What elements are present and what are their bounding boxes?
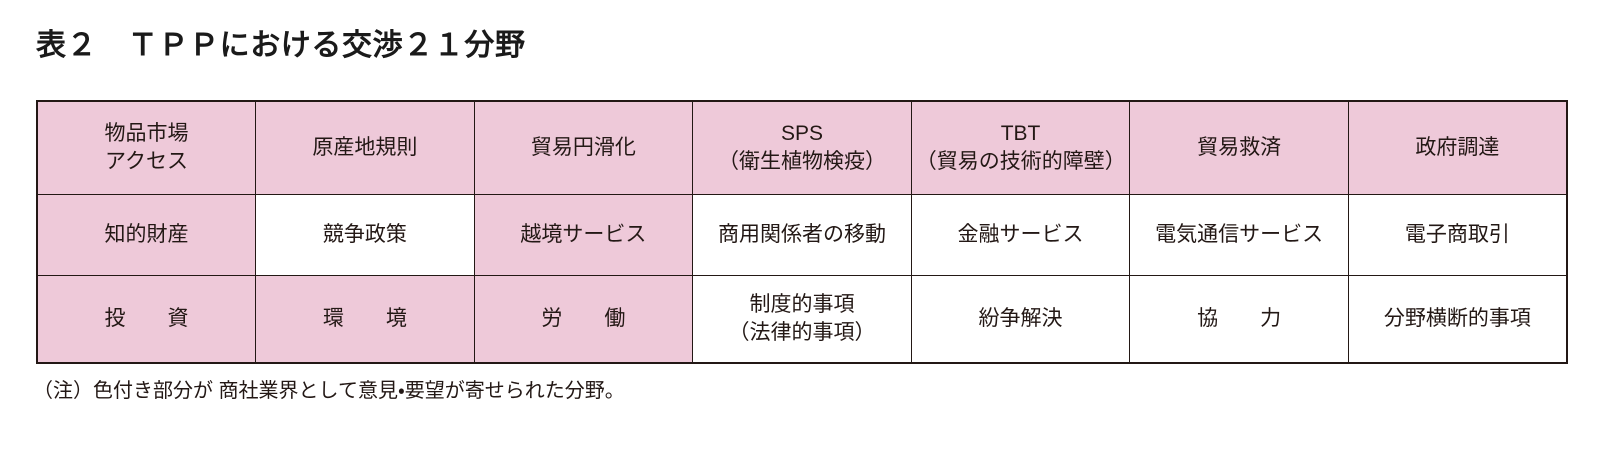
cell-sps: SPS （衛生植物検疫） xyxy=(693,101,912,195)
table-footnote: （注）色付き部分が 商社業界として意見・要望が寄せられた分野。 xyxy=(33,378,625,404)
cell-cross-cutting-issues: 分野横断的事項 xyxy=(1348,276,1567,364)
cell-electronic-commerce: 電子商取引 xyxy=(1348,195,1567,276)
negotiation-fields-table: 物品市場 アクセス 原産地規則 貿易円滑化 SPS （衛生植物検疫） TBT （… xyxy=(36,100,1568,364)
cell-competition-policy: 競争政策 xyxy=(256,195,475,276)
cell-rules-of-origin: 原産地規則 xyxy=(256,101,475,195)
table-row: 物品市場 アクセス 原産地規則 貿易円滑化 SPS （衛生植物検疫） TBT （… xyxy=(37,101,1567,195)
cell-business-travel: 商用関係者の移動 xyxy=(693,195,912,276)
cell-cooperation: 協 力 xyxy=(1130,276,1349,364)
table-body: 物品市場 アクセス 原産地規則 貿易円滑化 SPS （衛生植物検疫） TBT （… xyxy=(37,101,1567,363)
cell-tbt: TBT （貿易の技術的障壁） xyxy=(911,101,1130,195)
figure-container: 表２ ＴＰＰにおける交渉２１分野 物品市場 アクセス 原産地規則 貿易円滑化 S… xyxy=(0,0,1602,460)
cell-cross-border-services: 越境サービス xyxy=(474,195,693,276)
table-row: 投 資 環 境 労 働 制度的事項 （法律的事項） 紛争解決 協 力 分野横断的… xyxy=(37,276,1567,364)
cell-financial-services: 金融サービス xyxy=(911,195,1130,276)
cell-trade-remedies: 貿易救済 xyxy=(1130,101,1349,195)
cell-investment: 投 資 xyxy=(37,276,256,364)
cell-trade-facilitation: 貿易円滑化 xyxy=(474,101,693,195)
cell-dispute-settlement: 紛争解決 xyxy=(911,276,1130,364)
cell-environment: 環 境 xyxy=(256,276,475,364)
cell-government-procurement: 政府調達 xyxy=(1348,101,1567,195)
page-title: 表２ ＴＰＰにおける交渉２１分野 xyxy=(36,28,526,64)
cell-labour: 労 働 xyxy=(474,276,693,364)
negotiation-fields-table-wrapper: 物品市場 アクセス 原産地規則 貿易円滑化 SPS （衛生植物検疫） TBT （… xyxy=(36,100,1566,364)
cell-telecom-services: 電気通信サービス xyxy=(1130,195,1349,276)
cell-intellectual-property: 知的財産 xyxy=(37,195,256,276)
cell-institutional-matters: 制度的事項 （法律的事項） xyxy=(693,276,912,364)
table-row: 知的財産 競争政策 越境サービス 商用関係者の移動 金融サービス 電気通信サービ… xyxy=(37,195,1567,276)
cell-goods-market-access: 物品市場 アクセス xyxy=(37,101,256,195)
